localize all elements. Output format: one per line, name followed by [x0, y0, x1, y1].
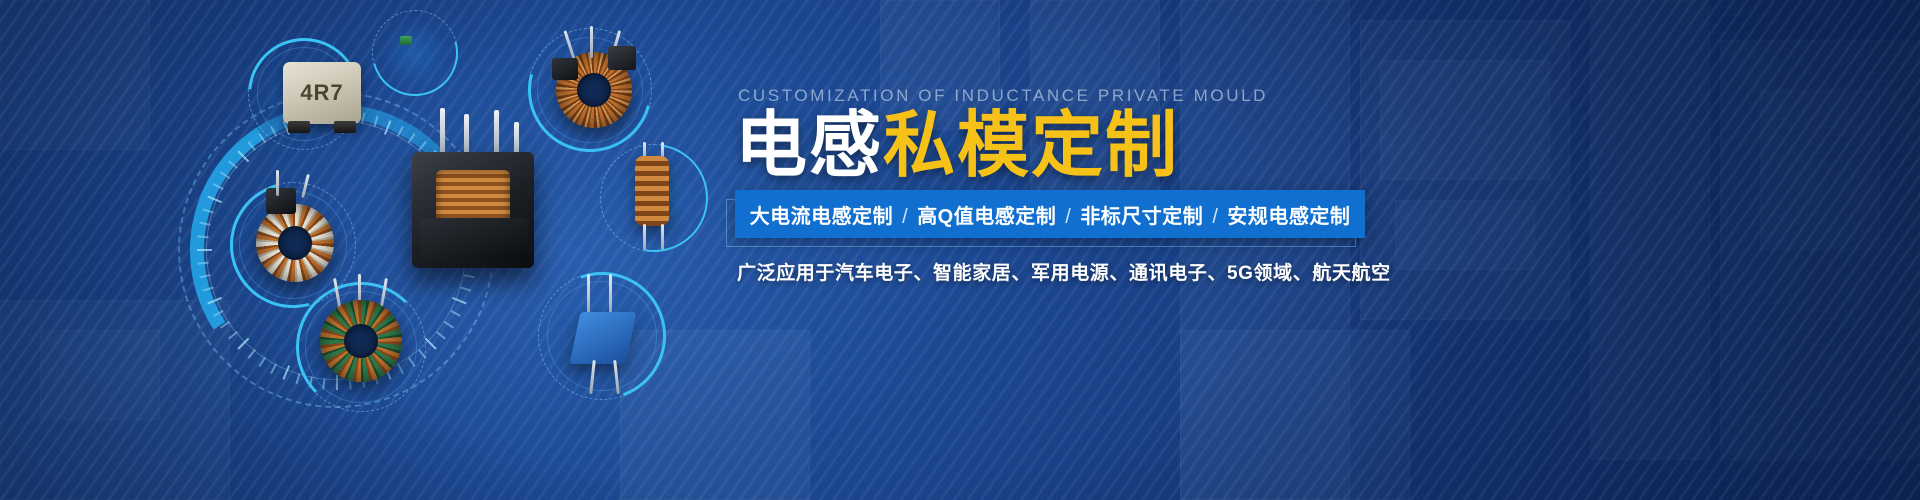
- feature-item: 高Q值电感定制: [917, 206, 1056, 228]
- product-high-current-block-inductor: [398, 108, 548, 280]
- feature-bar-text: 大电流电感定制/高Q值电感定制/非标尺寸定制/安规电感定制: [750, 200, 1351, 229]
- product-showcase: 4R7: [0, 0, 720, 500]
- product-micro-smd-component: [400, 36, 434, 66]
- product-toroidal-common-mode-choke: [556, 52, 632, 128]
- feature-item: 大电流电感定制: [750, 206, 894, 228]
- feature-separator: /: [1203, 206, 1227, 228]
- banner-description: 广泛应用于汽车电子、智能家居、军用电源、通讯电子、5G领域、航天航空: [737, 258, 1391, 285]
- product-green-toroidal-inductor: [320, 300, 402, 382]
- feature-list: 大电流电感定制/高Q值电感定制/非标尺寸定制/安规电感定制: [735, 190, 1365, 238]
- product-blue-radial-inductor: [575, 286, 631, 364]
- promo-banner: 4R7: [0, 0, 1920, 500]
- feature-separator: /: [893, 206, 917, 228]
- product-smd-power-inductor: 4R7: [283, 62, 361, 124]
- page-title-primary: 电感: [735, 106, 883, 186]
- banner-eyebrow-text: CUSTOMIZATION OF INDUCTANCE PRIVATE MOUL…: [738, 86, 1268, 106]
- product-rod-core-inductor: [635, 156, 669, 226]
- page-title: 电感私模定制: [735, 110, 1179, 182]
- page-title-accent: 私模定制: [883, 106, 1179, 186]
- feature-item: 安规电感定制: [1227, 206, 1350, 228]
- banner-content: CUSTOMIZATION OF INDUCTANCE PRIVATE MOUL…: [735, 0, 1920, 500]
- smd-chip-label: 4R7: [283, 62, 361, 124]
- feature-item: 非标尺寸定制: [1080, 206, 1203, 228]
- feature-bar: 大电流电感定制/高Q值电感定制/非标尺寸定制/安规电感定制: [735, 190, 1365, 238]
- feature-separator: /: [1056, 206, 1080, 228]
- product-flat-wire-toroidal-inductor: [256, 204, 334, 282]
